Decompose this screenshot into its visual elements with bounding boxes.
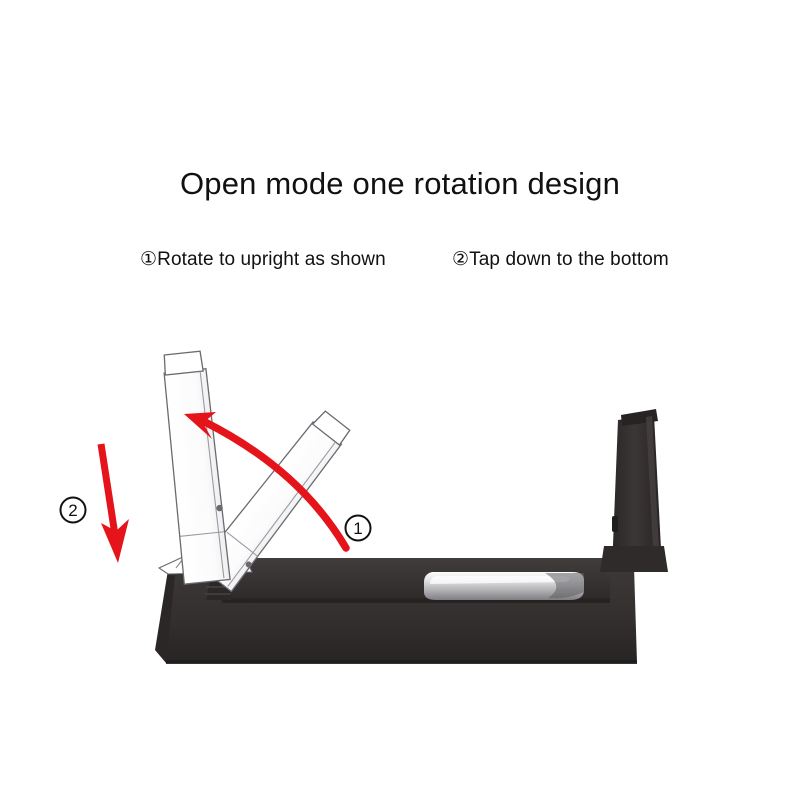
page-title: Open mode one rotation design: [0, 166, 800, 202]
right-post-group: [600, 409, 668, 572]
step-2-marker-label: 2: [68, 501, 77, 520]
step-2-caption: ②Tap down to the bottom: [452, 248, 669, 271]
press-down-arrow-shaft: [101, 444, 115, 535]
right-post-latch: [612, 516, 618, 532]
upright-arm-body: [162, 369, 230, 585]
upright-arm-cap: [163, 351, 203, 375]
step-1-caption: ①Rotate to upright as shown: [140, 248, 386, 271]
step-1-marker: 1: [346, 516, 371, 541]
diagram-page: Open mode one rotation design ①Rotate to…: [0, 0, 800, 800]
press-down-arrow: [101, 444, 129, 563]
step-2-marker: 2: [61, 498, 86, 523]
upright-arm: [160, 351, 230, 585]
metal-tray-group: [424, 572, 584, 600]
product-illustration: 1 2: [0, 320, 800, 720]
step-caption-row: ①Rotate to upright as shown ②Tap down to…: [0, 248, 800, 278]
base-body-bottom-edge: [166, 660, 637, 664]
right-post-foot: [600, 546, 668, 572]
step-1-marker-label: 1: [353, 519, 362, 538]
